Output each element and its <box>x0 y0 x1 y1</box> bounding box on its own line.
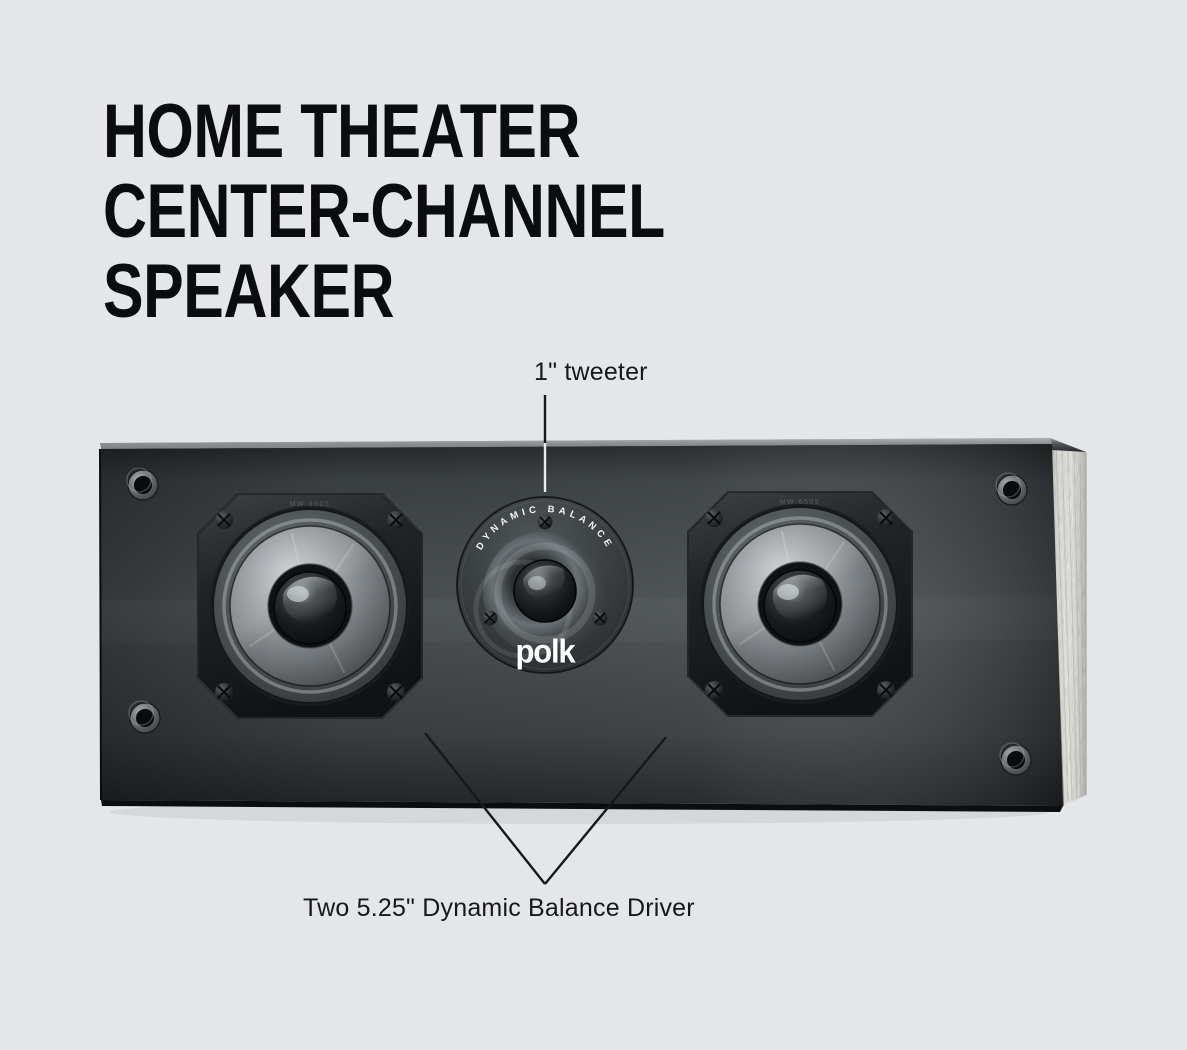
infographic-canvas: HOME THEATER CENTER-CHANNEL SPEAKER <box>0 0 1187 1050</box>
speaker-product-image: MW 6505 <box>0 0 1187 1050</box>
woofer-left: MW 6505 <box>198 494 422 718</box>
woofer-right: MW 6505 <box>688 492 912 716</box>
svg-text:MW 6505: MW 6505 <box>290 501 330 508</box>
svg-text:MW 6505: MW 6505 <box>780 499 820 506</box>
callout-tweeter-label: 1" tweeter <box>534 358 648 387</box>
tweeter: DYNAMIC BALANCE polk <box>457 497 633 673</box>
callout-drivers-label: Two 5.25" Dynamic Balance Driver <box>303 894 695 923</box>
brand-wordmark: polk <box>516 633 576 670</box>
